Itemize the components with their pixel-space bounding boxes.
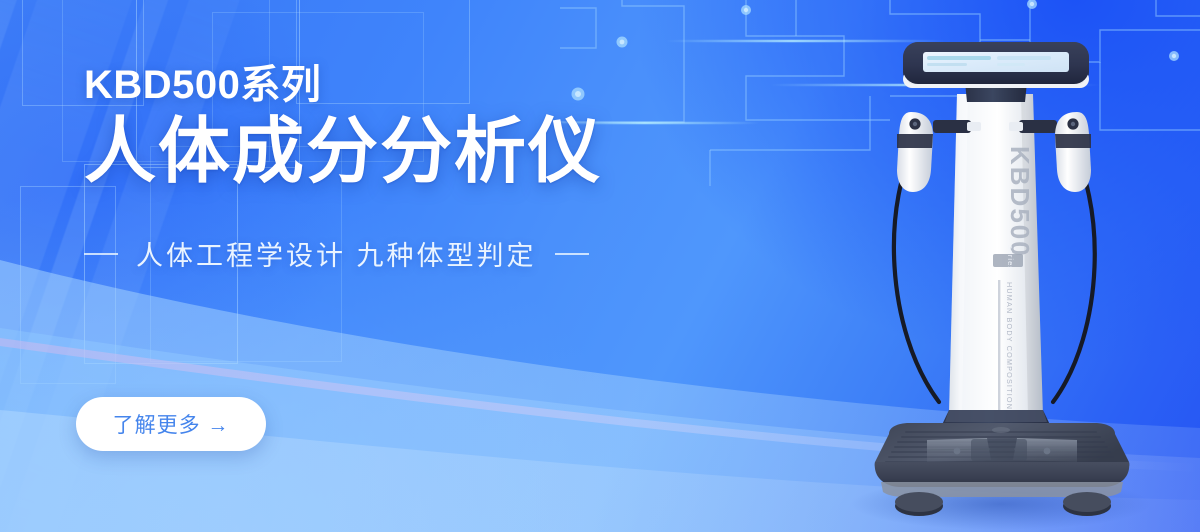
hero-copy: KBD500系列 人体成分分析仪 人体工程学设计 九种体型判定 <box>84 64 724 273</box>
dash-left-icon <box>84 253 118 255</box>
learn-more-button[interactable]: 了解更多 → <box>76 397 266 451</box>
device-brand-text: KBD500 <box>1005 146 1035 258</box>
hero-banner: KBD500 series HUMAN BODY COMPOSITION ANA… <box>0 0 1200 532</box>
hero-eyebrow: KBD500系列 <box>84 64 724 107</box>
hero-subline-text: 人体工程学设计 九种体型判定 <box>136 234 537 273</box>
hero-subline: 人体工程学设计 九种体型判定 <box>84 234 724 273</box>
device-badge-text: series <box>1006 245 1015 271</box>
hero-headline: 人体成分分析仪 <box>84 113 724 192</box>
learn-more-label: 了解更多 → <box>113 409 230 439</box>
product-image-body-composition-analyzer: KBD500 series HUMAN BODY COMPOSITION ANA… <box>815 30 1175 530</box>
dash-right-icon <box>555 253 589 255</box>
